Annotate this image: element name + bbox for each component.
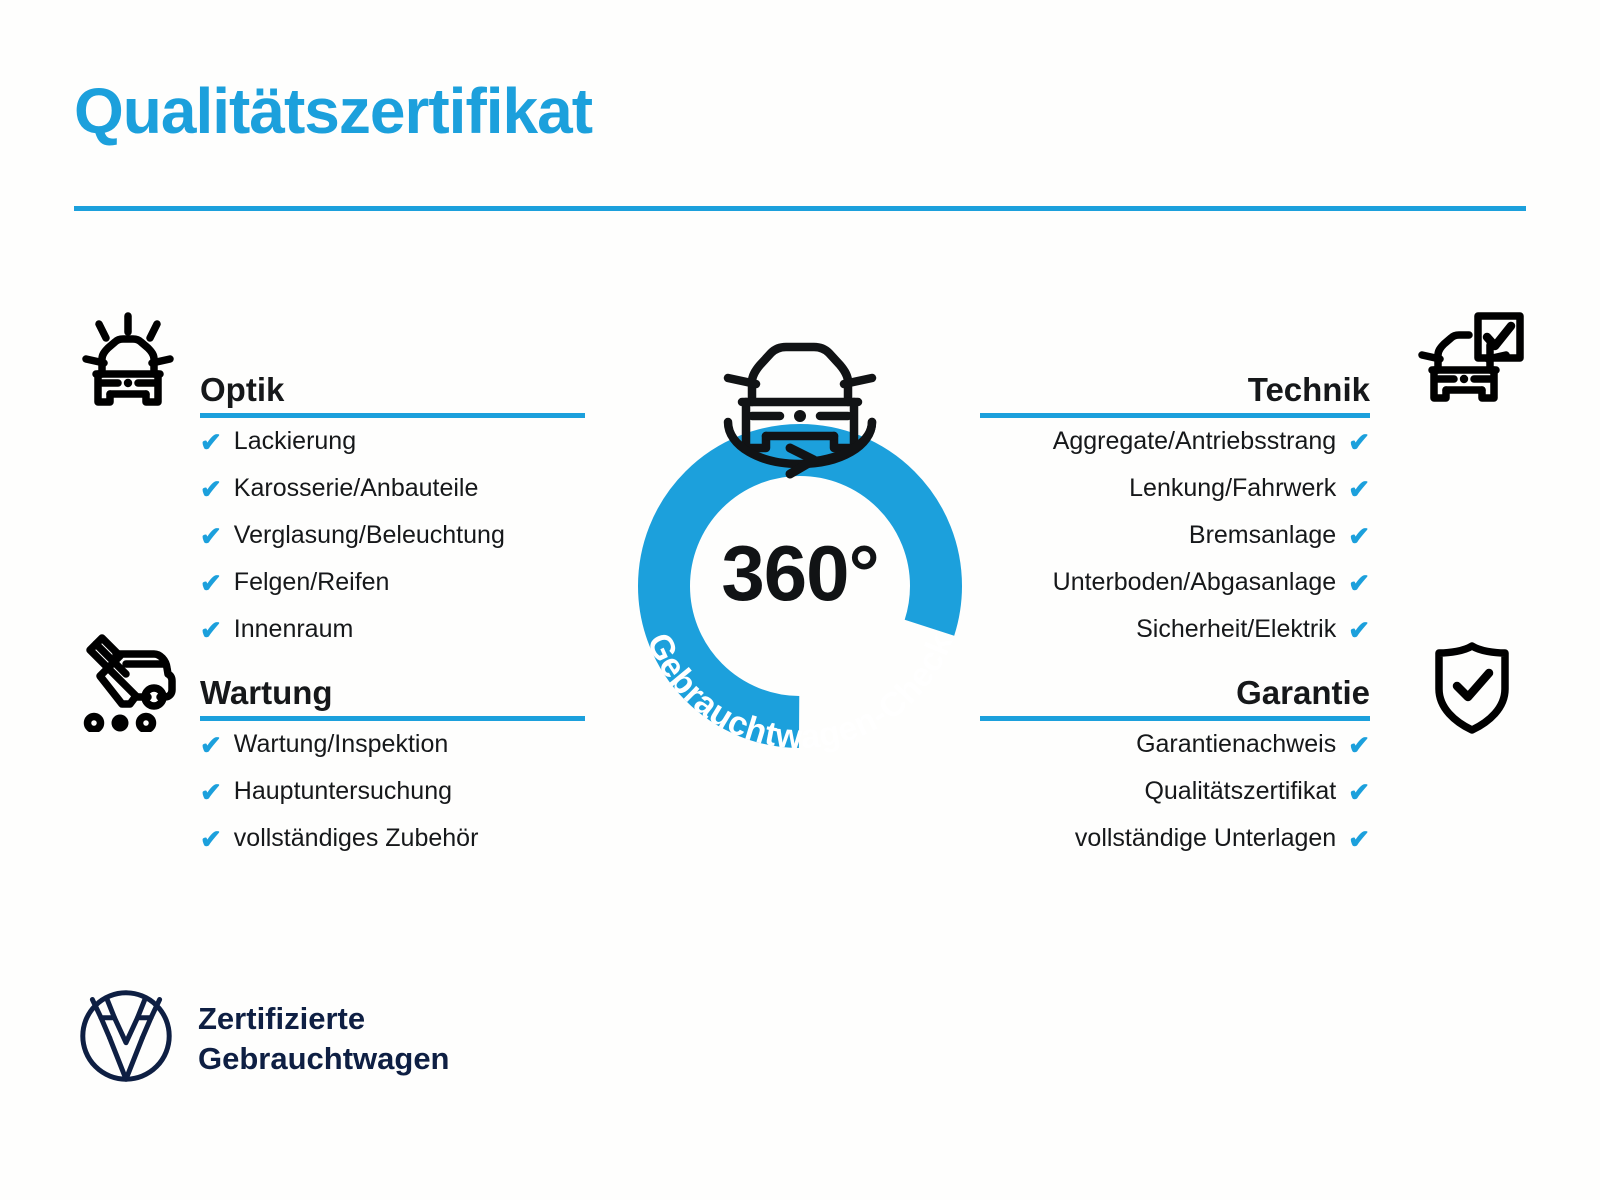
list-item-label: Qualitätszertifikat: [1144, 779, 1336, 804]
section-garantie: Garantie Garantienachweis✔ Qualitätszert…: [980, 665, 1370, 862]
check-icon: ✔: [200, 732, 222, 758]
list-item: ✔Karosserie/Anbauteile: [200, 465, 585, 512]
list-item-label: Unterboden/Abgasanlage: [1053, 570, 1337, 595]
section-optik: Optik ✔Lackierung ✔Karosserie/Anbauteile…: [200, 362, 585, 653]
check-icon: ✔: [200, 570, 222, 596]
section-technik: Technik Aggregate/Antriebsstrang✔ Lenkun…: [980, 362, 1370, 653]
volkswagen-logo: [78, 988, 174, 1089]
check-icon: ✔: [200, 429, 222, 455]
badge-center-label: 360°: [576, 528, 1024, 619]
list-item-label: Lenkung/Fahrwerk: [1129, 476, 1336, 501]
check-icon: ✔: [1348, 523, 1370, 549]
list-item: Garantienachweis✔: [980, 721, 1370, 768]
check-icon: ✔: [1348, 779, 1370, 805]
checklist-wartung: ✔Wartung/Inspektion ✔Hauptuntersuchung ✔…: [200, 721, 585, 862]
list-item: Lenkung/Fahrwerk✔: [980, 465, 1370, 512]
car-rotation-icon: [728, 347, 872, 474]
list-item: ✔Hauptuntersuchung: [200, 768, 585, 815]
header-divider: [74, 206, 1526, 211]
list-item: Unterboden/Abgasanlage✔: [980, 559, 1370, 606]
list-item: ✔Verglasung/Beleuchtung: [200, 512, 585, 559]
quality-certificate-page: Qualitätszertifikat: [0, 0, 1600, 1200]
section-header-wartung: Wartung: [200, 665, 585, 721]
list-item-label: Lackierung: [234, 429, 356, 454]
list-item: ✔Felgen/Reifen: [200, 559, 585, 606]
check-icon: ✔: [200, 523, 222, 549]
list-item-label: Wartung/Inspektion: [234, 732, 448, 757]
checklist-optik: ✔Lackierung ✔Karosserie/Anbauteile ✔Verg…: [200, 418, 585, 653]
list-item-label: Verglasung/Beleuchtung: [234, 523, 505, 548]
checklist-garantie: Garantienachweis✔ Qualitätszertifikat✔ v…: [980, 721, 1370, 862]
section-wartung: Wartung ✔Wartung/Inspektion ✔Hauptunters…: [200, 665, 585, 862]
list-item: ✔Innenraum: [200, 606, 585, 653]
list-item-label: Karosserie/Anbauteile: [234, 476, 479, 501]
gebrauchtwagen-check-badge: Gebrauchtwagen-Check 360°: [576, 296, 1024, 766]
car-checkbox-icon: [1416, 312, 1526, 417]
section-divider-wartung: [200, 716, 585, 721]
check-icon: ✔: [1348, 429, 1370, 455]
check-icon: ✔: [1348, 617, 1370, 643]
section-divider-optik: [200, 413, 585, 418]
check-icon: ✔: [200, 826, 222, 852]
list-item: Bremsanlage✔: [980, 512, 1370, 559]
list-item: vollständige Unterlagen✔: [980, 815, 1370, 862]
list-item: ✔Lackierung: [200, 418, 585, 465]
list-item: Sicherheit/Elektrik✔: [980, 606, 1370, 653]
section-title-garantie: Garantie: [1236, 676, 1370, 709]
check-icon: ✔: [200, 779, 222, 805]
car-shine-icon: [74, 312, 182, 421]
footer-brand-text: Zertifizierte Gebrauchtwagen: [198, 999, 450, 1077]
section-divider-garantie: [980, 716, 1370, 721]
check-icon: ✔: [1348, 570, 1370, 596]
list-item: ✔vollständiges Zubehör: [200, 815, 585, 862]
page-title: Qualitätszertifikat: [74, 78, 592, 145]
check-icon: ✔: [1348, 732, 1370, 758]
pencil-car-icon: [74, 632, 182, 737]
section-header-technik: Technik: [980, 362, 1370, 418]
list-item-label: Felgen/Reifen: [234, 570, 390, 595]
footer-line-2: Gebrauchtwagen: [198, 1039, 450, 1078]
footer-line-1: Zertifizierte: [198, 999, 450, 1038]
shield-check-icon: [1424, 640, 1520, 741]
section-title-wartung: Wartung: [200, 676, 333, 709]
list-item: Qualitätszertifikat✔: [980, 768, 1370, 815]
list-item-label: Sicherheit/Elektrik: [1136, 617, 1336, 642]
list-item: ✔Wartung/Inspektion: [200, 721, 585, 768]
section-header-garantie: Garantie: [980, 665, 1370, 721]
checklist-technik: Aggregate/Antriebsstrang✔ Lenkung/Fahrwe…: [980, 418, 1370, 653]
section-title-optik: Optik: [200, 373, 284, 406]
list-item-label: Bremsanlage: [1189, 523, 1336, 548]
list-item-label: Innenraum: [234, 617, 354, 642]
check-icon: ✔: [1348, 826, 1370, 852]
list-item-label: Hauptuntersuchung: [234, 779, 452, 804]
list-item-label: Aggregate/Antriebsstrang: [1053, 429, 1337, 454]
list-item: Aggregate/Antriebsstrang✔: [980, 418, 1370, 465]
check-icon: ✔: [200, 617, 222, 643]
check-icon: ✔: [1348, 476, 1370, 502]
section-title-technik: Technik: [1248, 373, 1370, 406]
check-icon: ✔: [200, 476, 222, 502]
section-divider-technik: [980, 413, 1370, 418]
list-item-label: vollständige Unterlagen: [1075, 826, 1336, 851]
footer-brand: Zertifizierte Gebrauchtwagen: [78, 988, 450, 1089]
list-item-label: vollständiges Zubehör: [234, 826, 479, 851]
section-header-optik: Optik: [200, 362, 585, 418]
list-item-label: Garantienachweis: [1136, 732, 1336, 757]
